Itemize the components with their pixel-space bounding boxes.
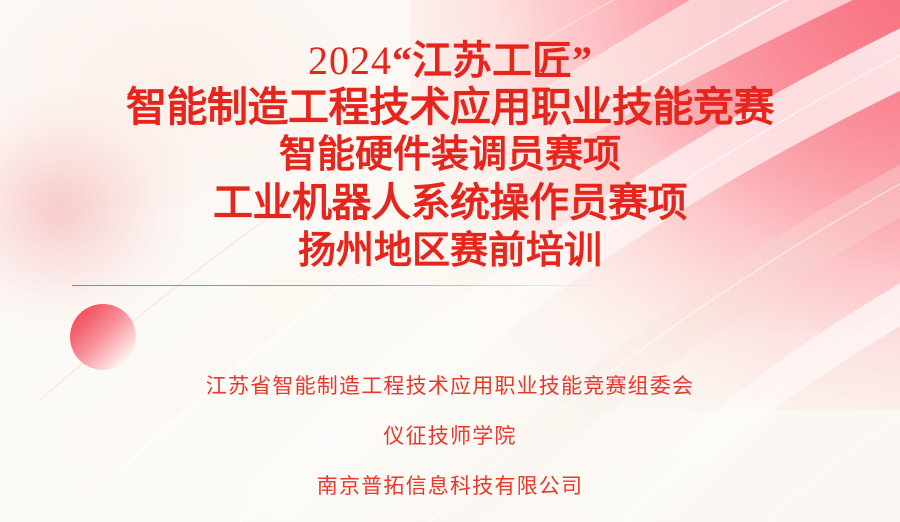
footer-line-company: 南京普拓信息科技有限公司 xyxy=(0,472,900,500)
title-line-2: 智能制造工程技术应用职业技能竞赛 xyxy=(0,84,900,131)
title-year: 2024 xyxy=(308,38,392,83)
horizontal-divider xyxy=(72,285,624,286)
title-line-3: 智能硬件装调员赛项 xyxy=(0,131,900,179)
title-award-name: “江苏工匠” xyxy=(392,38,592,83)
gradient-circle-decoration xyxy=(70,304,136,370)
title-block: 2024“江苏工匠” 智能制造工程技术应用职业技能竞赛 智能硬件装调员赛项 工业… xyxy=(0,38,900,275)
organizer-footer-block: 江苏省智能制造工程技术应用职业技能竞赛组委会 仪征技师学院 南京普拓信息科技有限… xyxy=(0,372,900,500)
poster-slide: 2024“江苏工匠” 智能制造工程技术应用职业技能竞赛 智能硬件装调员赛项 工业… xyxy=(0,0,900,522)
footer-line-host-college: 仪征技师学院 xyxy=(0,422,900,450)
footer-line-organizing-committee: 江苏省智能制造工程技术应用职业技能竞赛组委会 xyxy=(0,372,900,400)
title-line-4: 工业机器人系统操作员赛项 xyxy=(0,179,900,227)
title-line-1: 2024“江苏工匠” xyxy=(0,38,900,84)
title-line-5: 扬州地区赛前培训 xyxy=(0,227,900,275)
